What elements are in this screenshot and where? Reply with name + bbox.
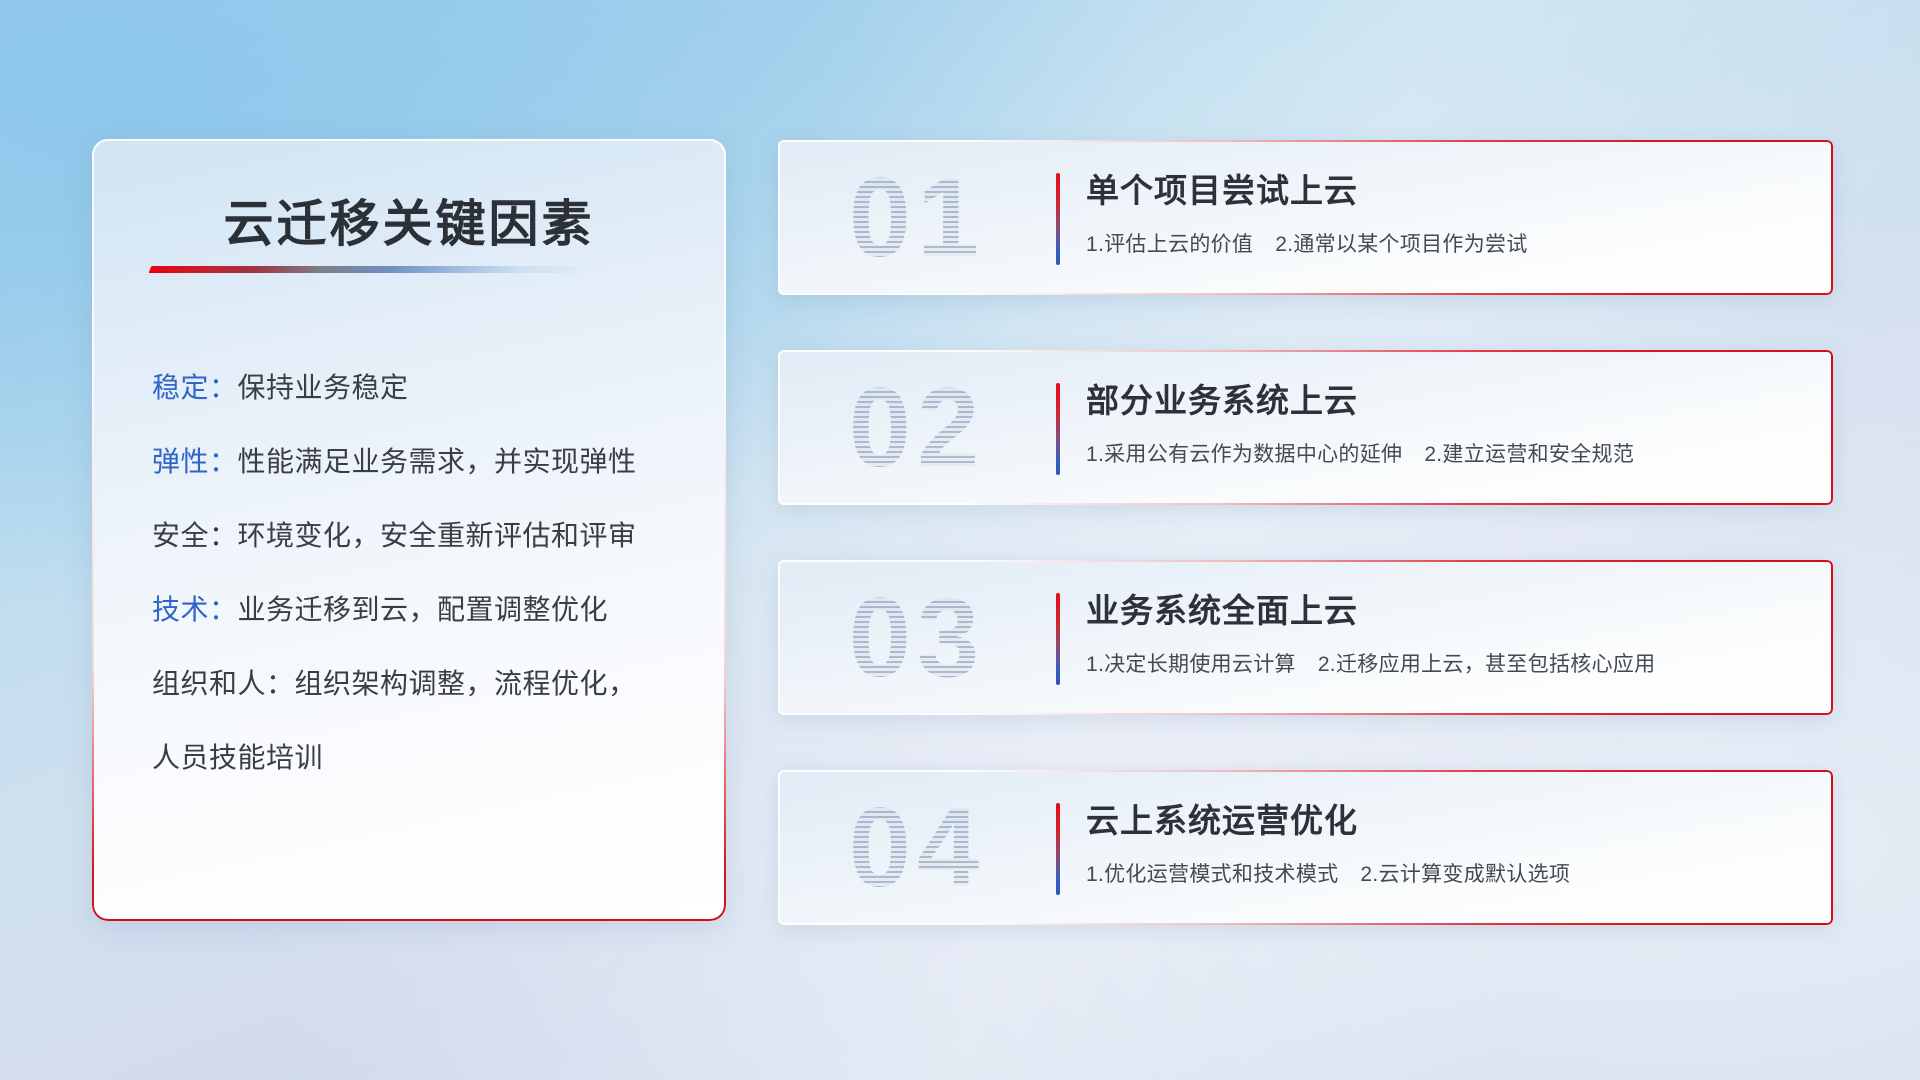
stage-point: 2.通常以某个项目作为尝试 (1275, 233, 1527, 256)
stage-point: 2.建立运营和安全规范 (1424, 443, 1634, 466)
stage-accent-bar (1056, 173, 1060, 265)
stage-number: 04 (802, 786, 1032, 910)
key-factors-panel: 云迁移关键因素 稳定：保持业务稳定 弹性：性能满足业务需求，并实现弹性 安全：环… (92, 139, 726, 921)
stage-card-03[interactable]: 03 03 业务系统全面上云 1.决定长期使用云计算2.迁移应用上云，甚至包括核… (778, 560, 1833, 715)
stage-title: 单个项目尝试上云 (1086, 164, 1358, 212)
list-item-text: 业务迁移到云，配置调整优化 (238, 594, 609, 625)
stage-point: 1.优化运营模式和技术模式 (1086, 863, 1338, 886)
list-item-key: 技术： (152, 594, 238, 625)
list-item-key: 组织和人： (152, 668, 295, 699)
key-factors-list: 稳定：保持业务稳定 弹性：性能满足业务需求，并实现弹性 安全：环境变化，安全重新… (152, 351, 690, 795)
list-item-text: 保持业务稳定 (238, 372, 409, 403)
stage-title: 业务系统全面上云 (1086, 584, 1358, 632)
list-item-text: 环境变化，安全重新评估和评审 (238, 520, 637, 551)
stage-accent-bar (1056, 593, 1060, 685)
stage-number: 02 (802, 366, 1032, 490)
stage-card-04[interactable]: 04 04 云上系统运营优化 1.优化运营模式和技术模式2.云计算变成默认选项 (778, 770, 1833, 925)
stage-point: 2.迁移应用上云，甚至包括核心应用 (1318, 653, 1656, 676)
stage-title: 部分业务系统上云 (1086, 374, 1358, 422)
list-item-key: 稳定： (152, 372, 238, 403)
list-item-text: 组织架构调整，流程优化， (295, 668, 637, 699)
list-item: 组织和人：组织架构调整，流程优化， (152, 647, 690, 721)
list-item: 安全：环境变化，安全重新评估和评审 (152, 499, 690, 573)
stage-accent-bar (1056, 383, 1060, 475)
stage-number: 01 (802, 156, 1032, 280)
slide-canvas: 云迁移关键因素 稳定：保持业务稳定 弹性：性能满足业务需求，并实现弹性 安全：环… (0, 0, 1920, 1080)
list-item-key: 安全： (152, 520, 238, 551)
list-item-text: 人员技能培训 (152, 742, 323, 773)
list-item-text: 性能满足业务需求，并实现弹性 (238, 446, 637, 477)
stage-points: 1.决定长期使用云计算2.迁移应用上云，甚至包括核心应用 (1086, 648, 1655, 678)
list-item: 弹性：性能满足业务需求，并实现弹性 (152, 425, 690, 499)
stage-card-02[interactable]: 02 02 部分业务系统上云 1.采用公有云作为数据中心的延伸2.建立运营和安全… (778, 350, 1833, 505)
page-title: 云迁移关键因素 (94, 184, 724, 256)
stage-point: 1.采用公有云作为数据中心的延伸 (1086, 443, 1402, 466)
stage-number: 03 (802, 576, 1032, 700)
stage-points: 1.优化运营模式和技术模式2.云计算变成默认选项 (1086, 858, 1570, 888)
stage-point: 1.评估上云的价值 (1086, 233, 1253, 256)
stage-points: 1.采用公有云作为数据中心的延伸2.建立运营和安全规范 (1086, 438, 1634, 468)
stage-accent-bar (1056, 803, 1060, 895)
stage-title: 云上系统运营优化 (1086, 794, 1358, 842)
stage-point: 2.云计算变成默认选项 (1360, 863, 1570, 886)
stage-card-01[interactable]: 01 01 单个项目尝试上云 1.评估上云的价值2.通常以某个项目作为尝试 (778, 140, 1833, 295)
list-item: 人员技能培训 (152, 721, 690, 795)
list-item: 稳定：保持业务稳定 (152, 351, 690, 425)
title-divider (149, 266, 592, 273)
stage-point: 1.决定长期使用云计算 (1086, 653, 1296, 676)
stage-points: 1.评估上云的价值2.通常以某个项目作为尝试 (1086, 228, 1528, 258)
list-item-key: 弹性： (152, 446, 238, 477)
list-item: 技术：业务迁移到云，配置调整优化 (152, 573, 690, 647)
